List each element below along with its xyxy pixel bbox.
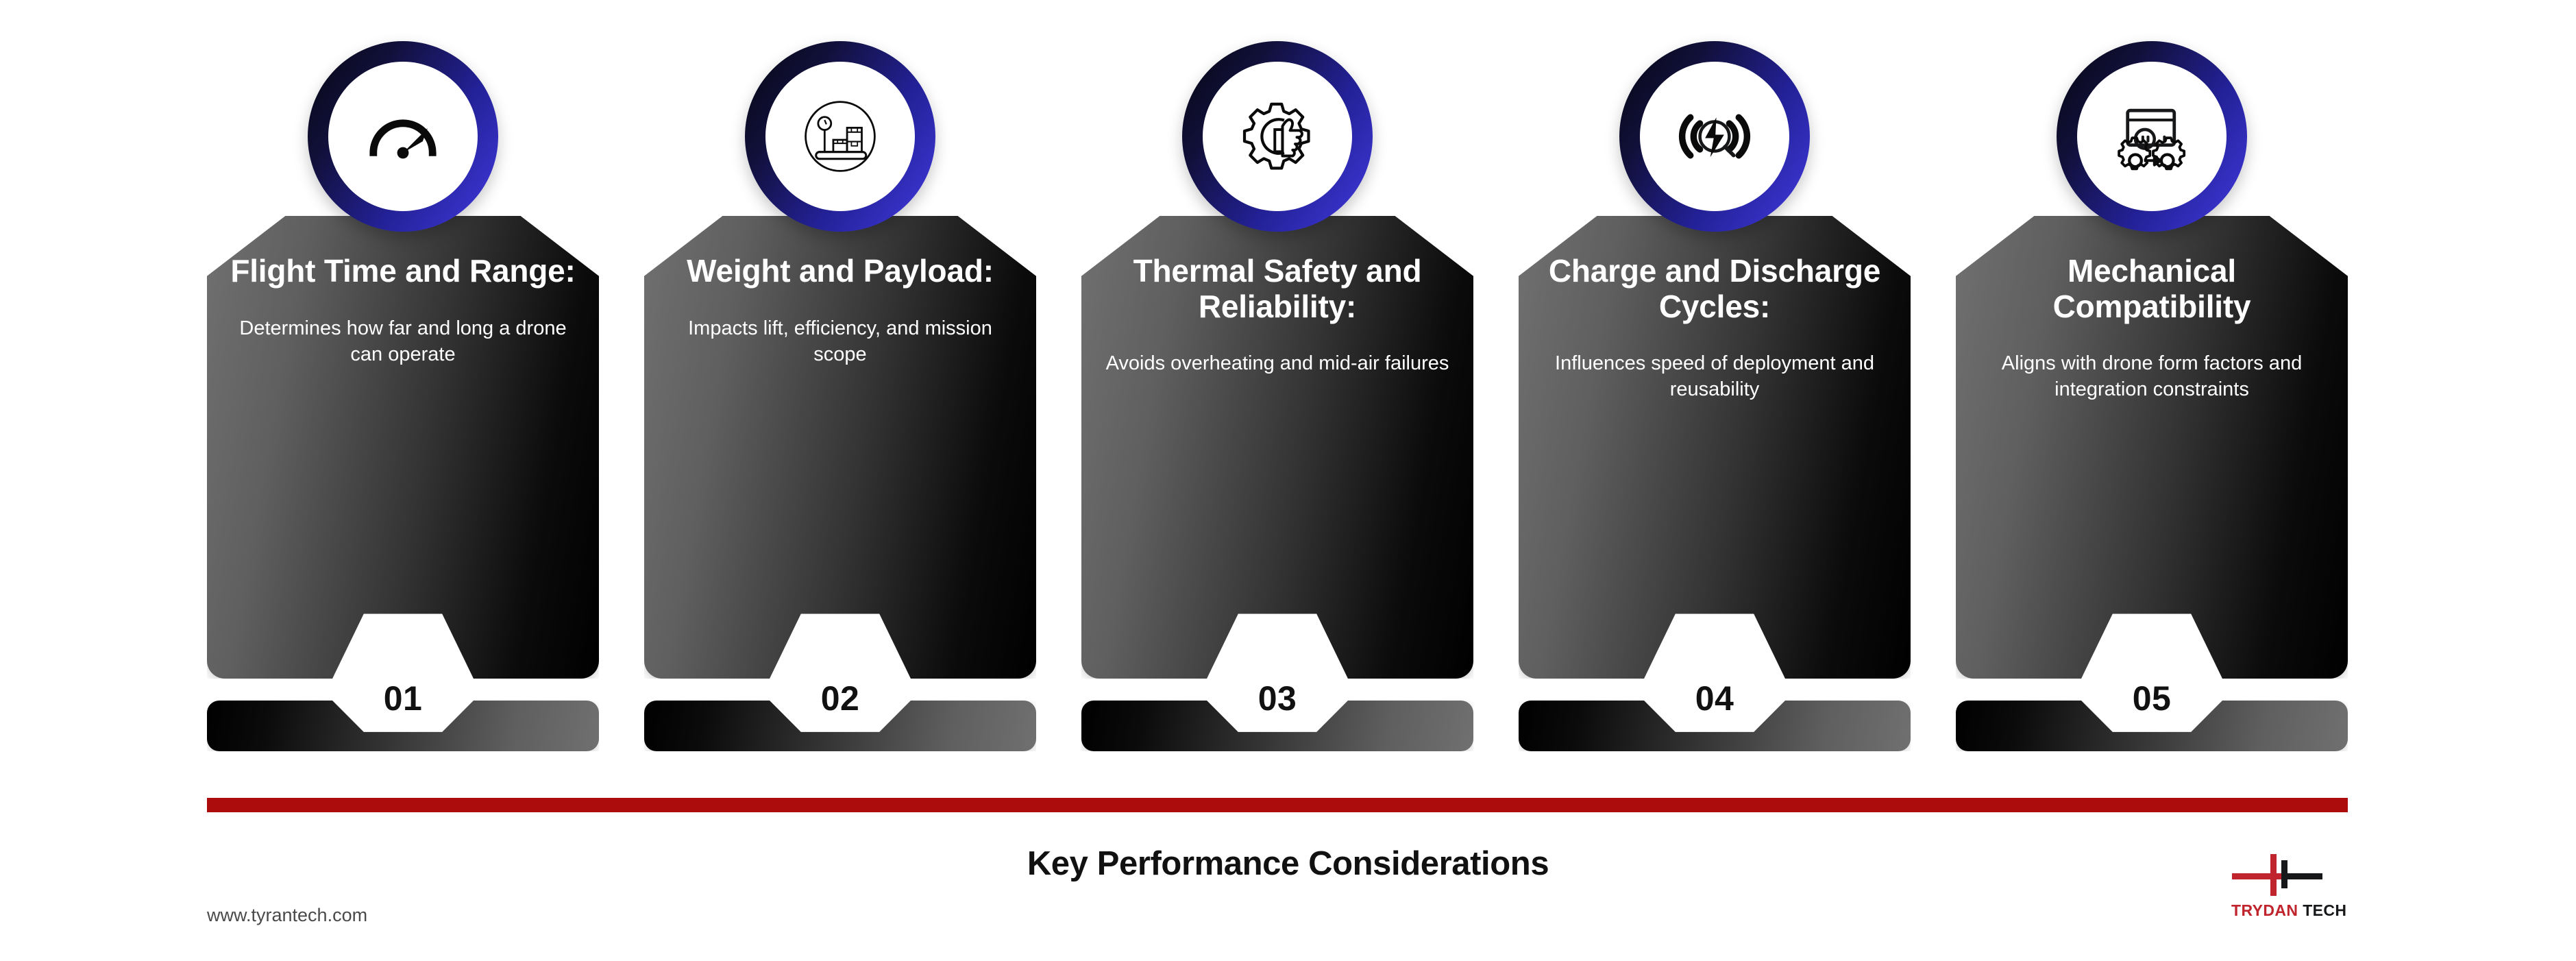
card-body [207, 216, 599, 679]
brand-name-secondary: TECH [2303, 901, 2346, 919]
card-icon-badge [1182, 41, 1373, 232]
capacitor-mark-icon [2229, 852, 2359, 897]
brand-name-primary: TRYDAN [2231, 901, 2298, 919]
card-number: 02 [644, 679, 1036, 718]
card-number: 04 [1519, 679, 1911, 718]
card-body [1081, 216, 1473, 679]
mark-black-horizontal [2281, 873, 2322, 879]
card-icon-badge [1619, 41, 1810, 232]
brand-wordmark: TRYDAN TECH [2231, 901, 2346, 920]
card-icon-inner [1640, 62, 1789, 211]
weighing-scale-boxes-icon [797, 93, 883, 180]
card-icon-badge [745, 41, 935, 232]
card-body [644, 216, 1036, 679]
gear-thumbs-up-icon [1235, 94, 1320, 179]
website-url[interactable]: www.tyrantech.com [207, 905, 367, 926]
consideration-card[interactable]: Weight and Payload:Impacts lift, efficie… [644, 41, 1036, 733]
consideration-card[interactable]: Flight Time and Range:Determines how far… [207, 41, 599, 733]
infographic-canvas: Flight Time and Range:Determines how far… [0, 0, 2576, 961]
card-number: 03 [1081, 679, 1473, 718]
consideration-card[interactable]: Thermal Safety and Reliability:Avoids ov… [1081, 41, 1473, 733]
card-number: 01 [207, 679, 599, 718]
panel-gears-arrow-icon [2109, 93, 2195, 180]
card-icon-inner [1203, 62, 1352, 211]
card-icon-inner [328, 62, 478, 211]
consideration-card[interactable]: Mechanical CompatibilityAligns with dron… [1956, 41, 2348, 733]
red-divider-rule [207, 798, 2348, 812]
card-icon-badge [308, 41, 498, 232]
footer-title: Key Performance Considerations [0, 844, 2576, 883]
brand-logo: TRYDAN TECH [2229, 852, 2359, 927]
mark-red-vertical [2270, 854, 2277, 896]
card-icon-inner [765, 62, 915, 211]
card-icon-inner [2077, 62, 2227, 211]
card-body [1519, 216, 1911, 679]
card-body [1956, 216, 2348, 679]
lightning-bolt-signal-icon [1671, 93, 1758, 180]
speedometer-gauge-icon [362, 95, 444, 178]
card-icon-badge [2057, 41, 2247, 232]
consideration-cards-row: Flight Time and Range:Determines how far… [207, 41, 2348, 733]
consideration-card[interactable]: Charge and Discharge Cycles:Influences s… [1519, 41, 1911, 733]
card-number: 05 [1956, 679, 2348, 718]
